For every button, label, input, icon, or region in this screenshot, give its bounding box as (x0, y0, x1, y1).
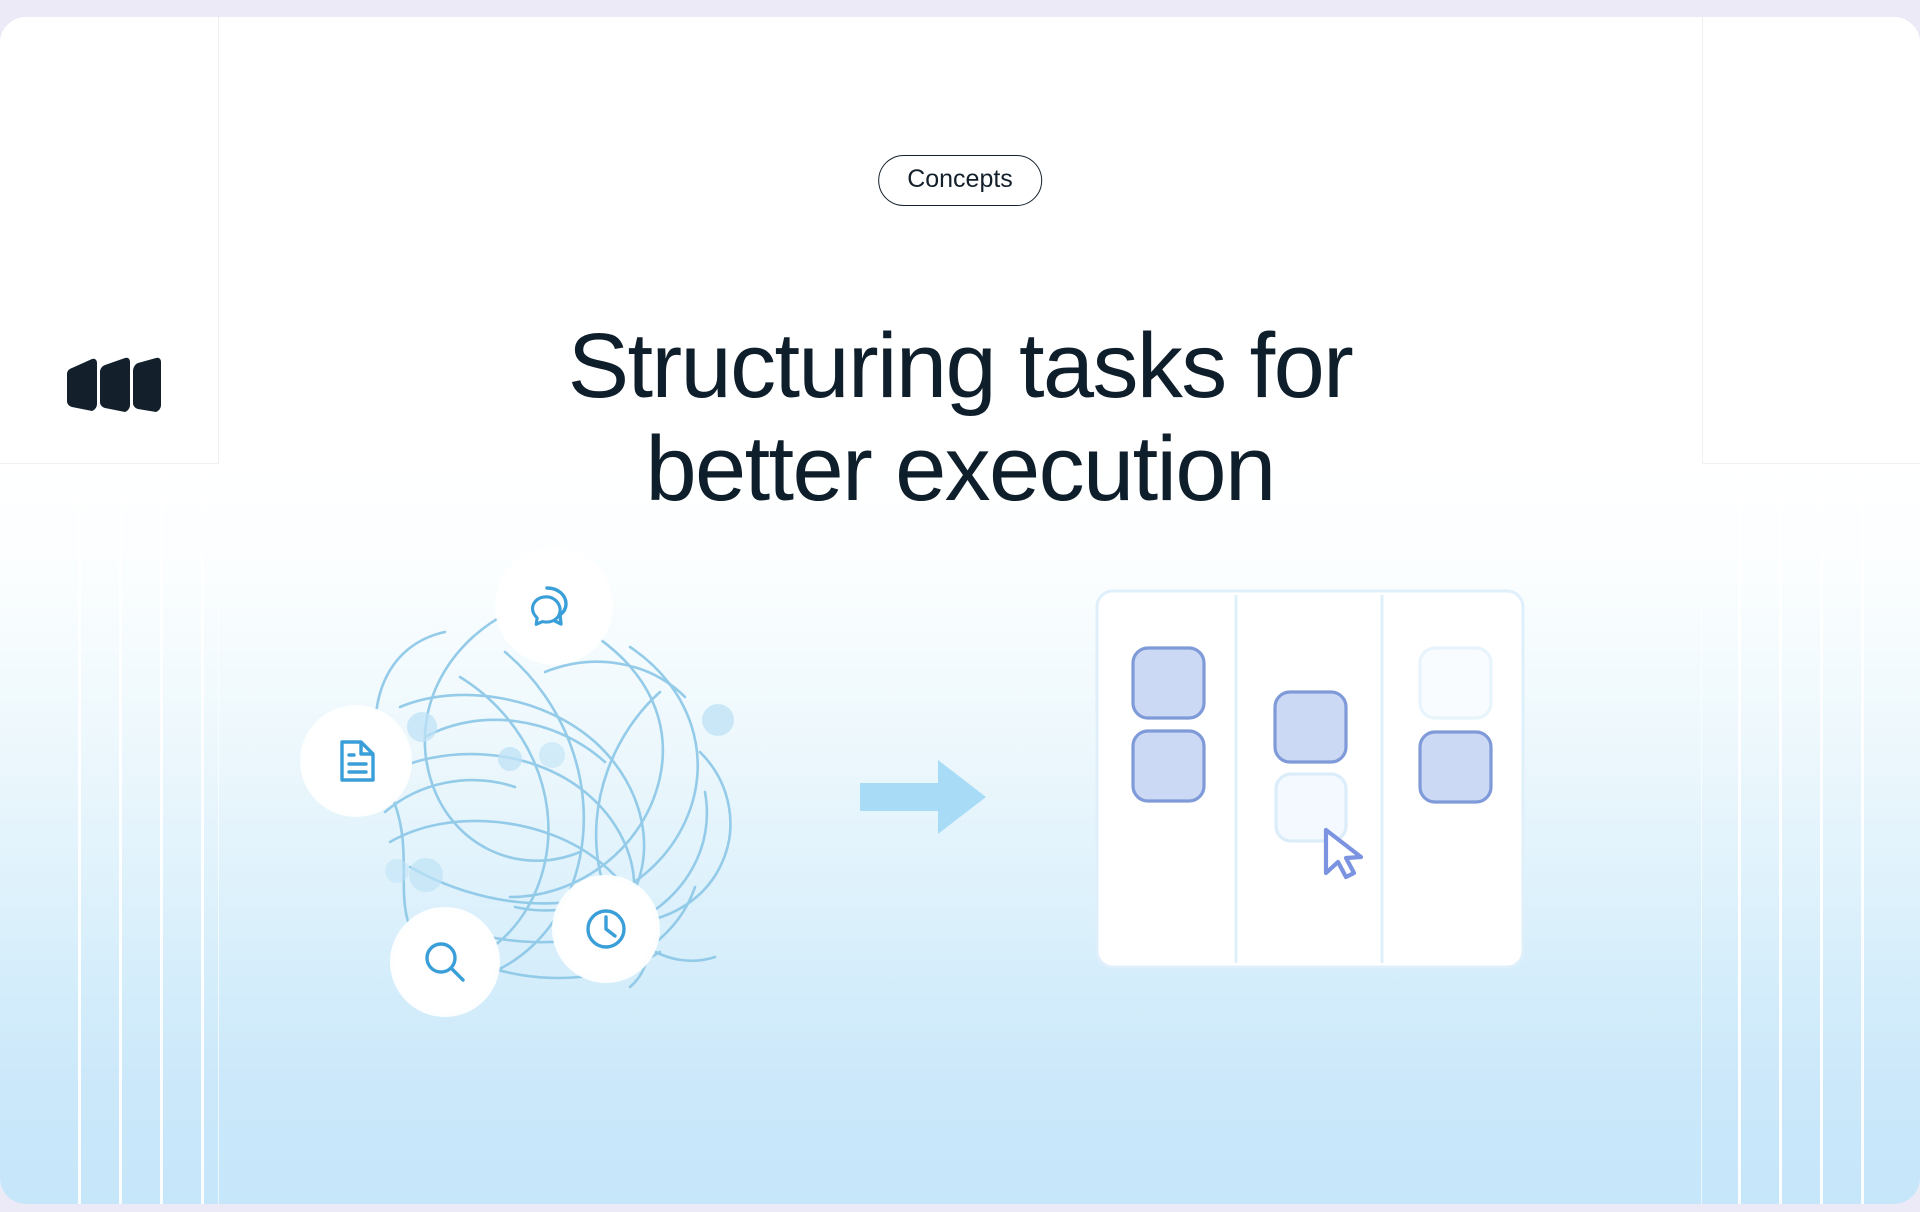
left-panel-edge (218, 464, 219, 1204)
clock-badge[interactable] (552, 875, 660, 983)
chat-bubbles-badge[interactable] (495, 547, 613, 665)
chat-bubbles-icon (527, 579, 581, 633)
page-frame: Concepts Structuring tasks for better ex… (0, 0, 1920, 1212)
kanban-card-ghost (1420, 648, 1491, 718)
document-badge[interactable] (300, 705, 412, 817)
hero-illustration (330, 577, 1620, 1037)
kanban-board-graphic (1095, 589, 1525, 969)
search-icon (420, 937, 470, 987)
document-icon (332, 737, 380, 785)
right-arrow-icon (860, 752, 990, 842)
page-title-line-1: Structuring tasks for (568, 315, 1352, 417)
kanban-card (1133, 731, 1204, 801)
kanban-card-ghost (1276, 774, 1346, 841)
kanban-card (1275, 692, 1346, 762)
right-panel-edge (1701, 464, 1702, 1204)
category-badge[interactable]: Concepts (878, 155, 1042, 206)
kanban-card (1420, 732, 1491, 802)
tangled-threads-cluster (330, 577, 760, 1017)
page-title-line-2: better execution (0, 418, 1920, 521)
page-title: Structuring tasks for better execution (0, 315, 1920, 521)
search-badge[interactable] (390, 907, 500, 1017)
kanban-card (1133, 648, 1204, 718)
clock-icon (581, 904, 631, 954)
kanban-board (1095, 589, 1525, 969)
content-card: Concepts Structuring tasks for better ex… (0, 17, 1920, 1204)
transition-arrow (860, 752, 990, 842)
